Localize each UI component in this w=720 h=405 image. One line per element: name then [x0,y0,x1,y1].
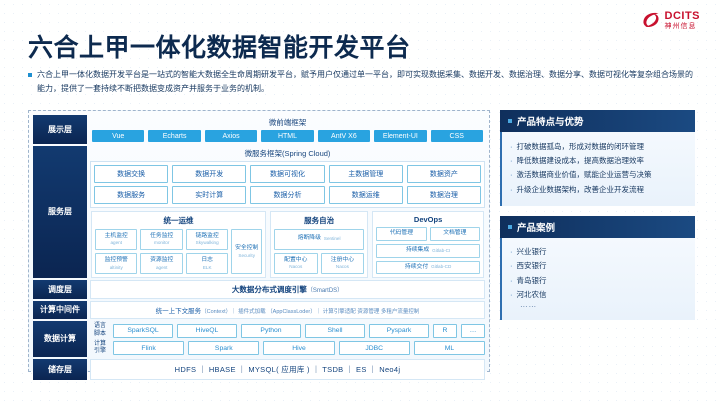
list-item: · 西安银行 [510,259,687,273]
logo-cn-text: 神州信息 [665,23,701,30]
list-item-label: 升级企业数据架构，改善企业开发流程 [517,185,645,194]
compute-tag[interactable]: JDBC [339,341,410,355]
compute-tag-list: SparkSQL HiveQL Python Shell Pyspark R … [113,324,485,338]
dot-icon: · [510,142,513,151]
schedule-layer-body: 大数据分布式调度引擎（SmartDS） [90,280,485,299]
service-module-row: 数据服务 实时计算 数据分析 数据运维 数据治理 [94,186,481,204]
ops-item-cn: 资源监控 [150,257,173,265]
middleware-en: （Context）｜ 插件式加载 （AppClassLoder）｜ 计算引擎适配… [201,309,419,315]
layer-label-middleware: 计算中间件 [33,301,87,319]
compute-groups: 语言 脚本 SparkSQL HiveQL Python Shell Pyspa… [90,321,485,357]
ops-item-en: Skywalking [196,240,219,246]
autonomy-item-en: Sentinel [324,236,341,242]
compute-row-language: 语言 脚本 SparkSQL HiveQL Python Shell Pyspa… [90,323,485,337]
service-module-row: 数据交换 数据开发 数据可视化 主数据管理 数据资产 [94,165,481,183]
ops-item[interactable]: 任务监控 monitor [140,229,182,250]
middleware-layer-row: 计算中间件 统一上下文服务（Context）｜ 插件式加载 （AppClassL… [33,301,485,319]
list-item-label: 青岛银行 [517,276,547,285]
ops-item[interactable]: 监控预警 altinity [95,253,137,274]
devops-item[interactable]: 文档管理 [430,227,480,241]
ops-item-en: ELK [203,265,212,271]
service-module-cell[interactable]: 数据交换 [94,165,168,183]
tech-tag[interactable]: Axios [205,130,257,142]
compute-tag[interactable]: R [433,324,457,338]
brand-logo: DCITS 神州信息 [641,10,701,30]
square-bullet-icon [28,73,32,77]
subpanel-title: 统一运维 [95,214,262,229]
list-item: · 河北农信 [510,288,687,302]
storage-list[interactable]: HDFS ｜ HBASE ｜ MYSQL( 应用库 ) ｜ TSDB ｜ ES … [90,359,485,380]
tech-tag[interactable]: Echarts [148,130,200,142]
card-header: 产品案例 [500,216,695,238]
storage-layer-row: 储存层 HDFS ｜ HBASE ｜ MYSQL( 应用库 ) ｜ TSDB ｜… [33,359,485,380]
devops-item-en: Gitlab-CD [431,264,451,270]
page-title: 六合上甲一体化数据智能开发平台 [28,28,411,64]
ops-item[interactable]: 链路监控 Skywalking [186,229,228,250]
list-item-label: 打破数据孤岛，形成对数据的闭环管理 [517,142,645,151]
autonomy-item[interactable]: 熔断降级 Sentinel [274,229,364,250]
presentation-section-title: 微前端框架 [90,115,485,130]
list-item: · 升级企业数据架构，改善企业开发流程 [510,182,687,196]
middleware-box[interactable]: 统一上下文服务（Context）｜ 插件式加载 （AppClassLoder）｜… [90,301,485,319]
service-layer-body: 微服务框架(Spring Cloud) 数据交换 数据开发 数据可视化 主数据管… [90,146,485,278]
compute-tag[interactable]: Python [241,324,301,338]
subpanel-service-autonomy: 服务自治 熔断降级 Sentinel 配置中心 Nacos [270,211,368,278]
service-module-cell[interactable]: 数据资产 [407,165,481,183]
list-item: · 青岛银行 [510,273,687,287]
subpanel-grid-row: 代码管理 文档管理 [376,227,480,241]
list-item-label: 降低数据建设成本，提高数据治理效率 [517,156,645,165]
service-module-cell[interactable]: 数据可视化 [250,165,324,183]
card-body: · 兴业银行 · 西安银行 · 青岛银行 · 河北农信 ⋯⋯ [500,238,695,321]
list-item-label: 西安银行 [517,261,547,270]
service-module-cell[interactable]: 数据分析 [250,186,324,204]
tech-tag[interactable]: AntV X6 [318,130,370,142]
compute-tag[interactable]: ML [414,341,485,355]
subpanel-grid: 熔断降级 Sentinel 配置中心 Nacos 注册中心 Nacos [274,229,364,274]
compute-tag-list: Flink Spark Hive JDBC ML [113,341,485,355]
ops-item-en: agent [110,240,122,246]
dot-icon: · [510,247,513,256]
service-module-cell[interactable]: 数据开发 [172,165,246,183]
ops-item-en: agent [156,265,168,271]
dot-icon: · [510,290,513,299]
ops-item-cn: 主机监控 [105,233,128,241]
list-item: · 降低数据建设成本，提高数据治理效率 [510,153,687,167]
compute-row-key: 语言 脚本 [90,323,110,337]
list-item: · 打破数据孤岛，形成对数据的闭环管理 [510,139,687,153]
list-item-label: 河北农信 [517,290,547,299]
layer-label-compute-line1: 数据 [44,334,60,344]
schedule-engine-cn: 大数据分布式调度引擎 [232,285,307,294]
layer-label-service: 服务层 [33,146,87,278]
compute-row-engine: 计算 引擎 Flink Spark Hive JDBC ML [90,341,485,355]
schedule-layer-row: 调度层 大数据分布式调度引擎（SmartDS） [33,280,485,299]
compute-tag[interactable]: Shell [305,324,365,338]
service-module-cell[interactable]: 数据治理 [407,186,481,204]
ops-item-cn: 监控预警 [105,257,128,265]
ops-item[interactable]: 主机监控 agent [95,229,137,250]
devops-item-cn: 文档管理 [443,230,466,238]
ops-item[interactable]: 资源监控 agent [140,253,182,274]
card-product-cases: 产品案例 · 兴业银行 · 西安银行 · 青岛银行 · 河北农信 ⋯⋯ [500,216,695,321]
devops-item-cn: 代码管理 [390,230,413,238]
autonomy-item[interactable]: 配置中心 Nacos [274,253,318,275]
presentation-layer-body: 微前端框架 Vue Echarts Axios HTML AntV X6 Ele… [90,115,485,144]
subpanel-column: 安全控制 Security [231,229,262,274]
ops-item-en: Security [238,253,255,259]
tech-tag[interactable]: HTML [261,130,313,142]
layer-label-compute: 数据 计算 [33,321,87,357]
compute-key-line2: 引擎 [94,348,106,354]
ops-item[interactable]: 安全控制 Security [231,229,262,274]
dot-icon: · [510,170,513,179]
subpanel-grid-row: 配置中心 Nacos 注册中心 Nacos [274,253,364,275]
dot-icon: · [510,276,513,285]
dot-icon: · [510,185,513,194]
tech-tag[interactable]: Element-UI [374,130,426,142]
compute-key-line2: 脚本 [94,331,106,337]
subpanel-column: 任务监控 monitor 资源监控 agent [140,229,182,274]
sidebar: 产品特点与优势 · 打破数据孤岛，形成对数据的闭环管理 · 降低数据建设成本，提… [500,110,695,330]
service-module-cell[interactable]: 数据运维 [329,186,403,204]
logo-en-text: DCITS [665,11,701,22]
service-module-cell[interactable]: 主数据管理 [329,165,403,183]
layer-label-schedule: 调度层 [33,280,87,299]
layer-label-compute-line2: 计算 [60,334,76,344]
ops-item-cn: 任务监控 [150,233,173,241]
tech-tag[interactable]: Vue [92,130,144,142]
compute-tag[interactable]: Hive [263,341,334,355]
card-product-advantages: 产品特点与优势 · 打破数据孤岛，形成对数据的闭环管理 · 降低数据建设成本，提… [500,110,695,206]
compute-tag[interactable]: Flink [113,341,184,355]
schedule-engine-box[interactable]: 大数据分布式调度引擎（SmartDS） [90,280,485,299]
devops-item-cn: 持续交付 [405,264,428,272]
compute-layer-body: 语言 脚本 SparkSQL HiveQL Python Shell Pyspa… [90,321,485,357]
dot-icon: · [510,156,513,165]
compute-tag-more[interactable]: … [461,324,485,338]
subpanel-grid: 主机监控 agent 监控预警 altinity 任务监控 moni [95,229,262,274]
subpanel-title: 服务自治 [274,214,364,229]
dot-icon: · [510,261,513,270]
subpanel-unified-ops: 统一运维 主机监控 agent 监控预警 altinity [91,211,266,278]
devops-item-en: Gitlab-CI [432,248,450,254]
ops-item[interactable]: 日志 ELK [186,253,228,274]
compute-tag[interactable]: Spark [188,341,259,355]
list-item-label: 兴业银行 [517,247,547,256]
devops-item-cn: 持续集成 [406,247,429,255]
list-item: · 激活数据商业价值，赋能企业运营与决策 [510,168,687,182]
ops-item-en: monitor [154,240,169,246]
list-item: · 兴业银行 [510,245,687,259]
subpanel-column: 主机监控 agent 监控预警 altinity [95,229,137,274]
card-header: 产品特点与优势 [500,110,695,132]
ops-item-en: altinity [110,265,123,271]
architecture-diagram: 展示层 微前端框架 Vue Echarts Axios HTML AntV X6… [28,110,490,372]
square-bullet-icon [508,119,512,123]
middleware-cn: 统一上下文服务 [156,308,202,315]
list-item-label: 激活数据商业价值，赋能企业运营与决策 [517,170,652,179]
compute-row-key: 计算 引擎 [90,341,110,355]
autonomy-item-cn: 注册中心 [331,257,354,265]
autonomy-item[interactable]: 注册中心 Nacos [321,253,365,275]
service-module-cell[interactable]: 实时计算 [172,186,246,204]
devops-item[interactable]: 持续集成 Gitlab-CI [376,244,480,258]
compute-tag[interactable]: SparkSQL [113,324,173,338]
card-body: · 打破数据孤岛，形成对数据的闭环管理 · 降低数据建设成本，提高数据治理效率 … [500,132,695,206]
subpanel-title: DevOps [376,214,480,227]
card-title: 产品特点与优势 [517,114,584,128]
compute-key-line1: 计算 [94,341,106,347]
ops-item-cn: 日志 [201,257,213,265]
dcits-swoosh-icon [641,10,661,30]
square-bullet-icon [508,225,512,229]
middleware-layer-body: 统一上下文服务（Context）｜ 插件式加载 （AppClassLoder）｜… [90,301,485,319]
list-ellipsis: ⋯⋯ [510,302,687,311]
devops-item[interactable]: 代码管理 [376,227,426,241]
subpanel-devops: DevOps 代码管理 文档管理 持续集成 Gitlab-C [372,211,484,278]
subpanel-column: 链路监控 Skywalking 日志 ELK [186,229,228,274]
compute-key-line1: 语言 [94,323,106,329]
ops-item-cn: 链路监控 [196,233,219,241]
subpanel-grid: 代码管理 文档管理 持续集成 Gitlab-CI 持续交付 G [376,227,480,274]
ops-item-cn: 安全控制 [235,245,258,253]
autonomy-item-cn: 熔断降级 [298,235,321,243]
compute-tag[interactable]: HiveQL [177,324,237,338]
layer-label-presentation: 展示层 [33,115,87,144]
schedule-engine-en: （SmartDS） [307,288,343,294]
intro-text: 六合上甲一体化数据开发平台是一站式的智能大数据全生命周期研发平台，赋予用户仅通过… [37,68,696,96]
service-module-grid: 数据交换 数据开发 数据可视化 主数据管理 数据资产 数据服务 实时计算 数据分… [90,161,485,208]
intro-paragraph: 六合上甲一体化数据开发平台是一站式的智能大数据全生命周期研发平台，赋予用户仅通过… [28,68,696,96]
compute-layer-row: 数据 计算 语言 脚本 SparkSQL HiveQL Python Shell… [33,321,485,357]
layer-label-storage: 储存层 [33,359,87,380]
tech-tag[interactable]: CSS [431,130,483,142]
devops-item[interactable]: 持续交付 Gitlab-CD [376,261,480,275]
autonomy-item-cn: 配置中心 [284,257,307,265]
card-title: 产品案例 [517,220,555,234]
storage-layer-body: HDFS ｜ HBASE ｜ MYSQL( 应用库 ) ｜ TSDB ｜ ES … [90,359,485,380]
service-subpanel-group: 统一运维 主机监控 agent 监控预警 altinity [90,211,485,278]
presentation-tag-row: Vue Echarts Axios HTML AntV X6 Element-U… [90,130,485,144]
service-module-cell[interactable]: 数据服务 [94,186,168,204]
compute-tag[interactable]: Pyspark [369,324,429,338]
autonomy-item-en: Nacos [289,264,302,270]
autonomy-item-en: Nacos [336,264,349,270]
service-section-title: 微服务框架(Spring Cloud) [90,146,485,161]
presentation-layer-row: 展示层 微前端框架 Vue Echarts Axios HTML AntV X6… [33,115,485,144]
service-layer-row: 服务层 微服务框架(Spring Cloud) 数据交换 数据开发 数据可视化 … [33,146,485,278]
